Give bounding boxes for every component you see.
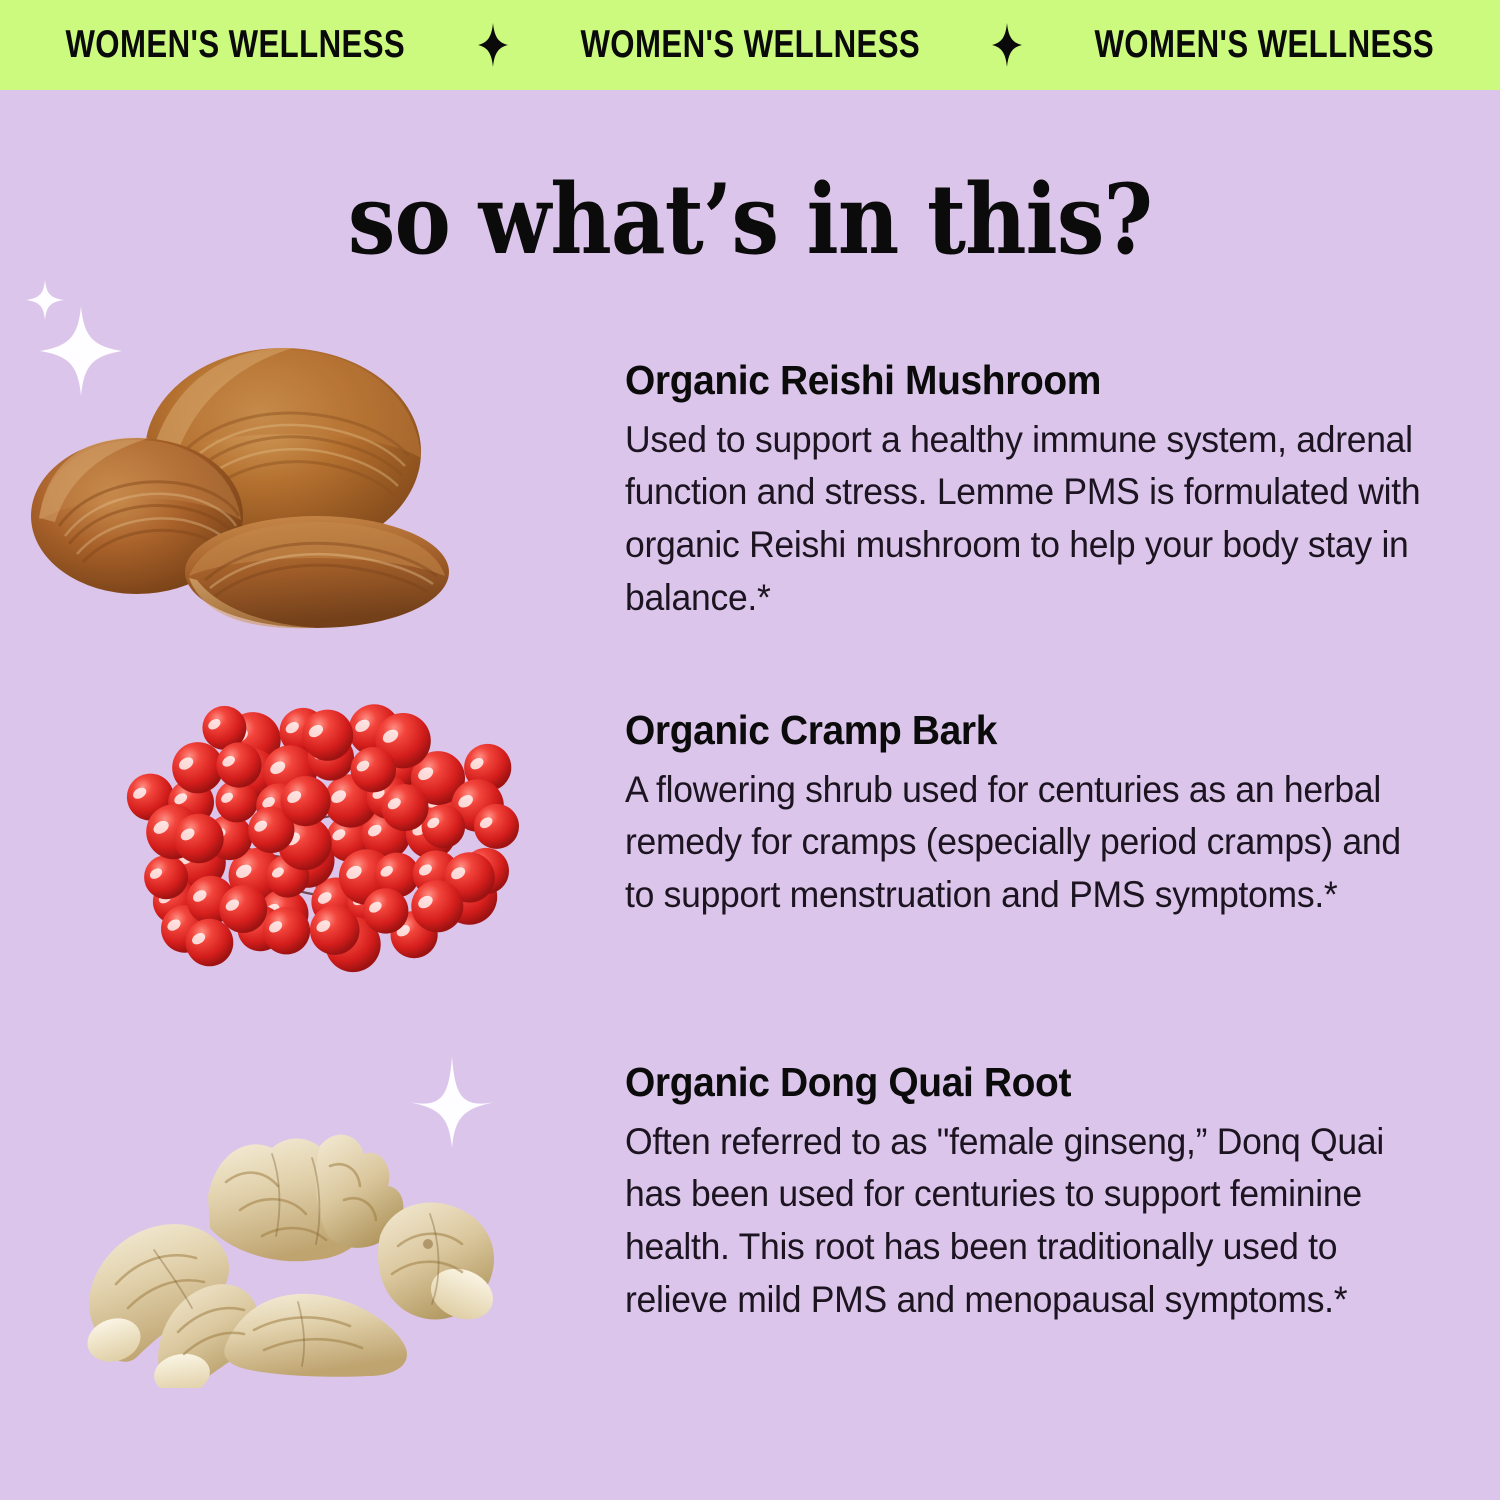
- ingredient-title: Organic Cramp Bark: [625, 708, 1418, 754]
- ingredient-row-cramp-bark: Organic Cramp Bark A flowering shrub use…: [0, 660, 1500, 1040]
- banner-text-1: WOMEN'S WELLNESS: [66, 23, 406, 67]
- reishi-mushroom-photo: [0, 300, 625, 660]
- banner-text-2: WOMEN'S WELLNESS: [580, 23, 920, 67]
- page-title: so what’s in this?: [90, 172, 1410, 268]
- ingredient-description: Used to support a healthy immune system,…: [625, 414, 1427, 624]
- ingredient-row-dong-quai: Organic Dong Quai Root Often referred to…: [0, 1040, 1500, 1440]
- four-point-star-icon: [992, 23, 1022, 67]
- dong-quai-root-photo: [0, 1040, 625, 1440]
- banner-text-3: WOMEN'S WELLNESS: [1095, 23, 1435, 67]
- ingredient-description: Often referred to as "female ginseng,” D…: [625, 1116, 1427, 1326]
- ingredient-title: Organic Dong Quai Root: [625, 1060, 1418, 1106]
- ingredient-description: A flowering shrub used for centuries as …: [625, 764, 1427, 922]
- ingredient-copy-dong-quai: Organic Dong Quai Root Often referred to…: [625, 1040, 1500, 1326]
- ingredient-copy-cramp-bark: Organic Cramp Bark A flowering shrub use…: [625, 660, 1500, 922]
- ingredient-copy-reishi: Organic Reishi Mushroom Used to support …: [625, 300, 1500, 624]
- ingredient-title: Organic Reishi Mushroom: [625, 358, 1418, 404]
- ingredient-row-reishi: Organic Reishi Mushroom Used to support …: [0, 300, 1500, 660]
- womens-wellness-banner: WOMEN'S WELLNESS WOMEN'S WELLNESS WOMEN'…: [0, 0, 1500, 90]
- four-point-star-icon: [478, 23, 508, 67]
- cramp-bark-berries-photo: [0, 660, 625, 1040]
